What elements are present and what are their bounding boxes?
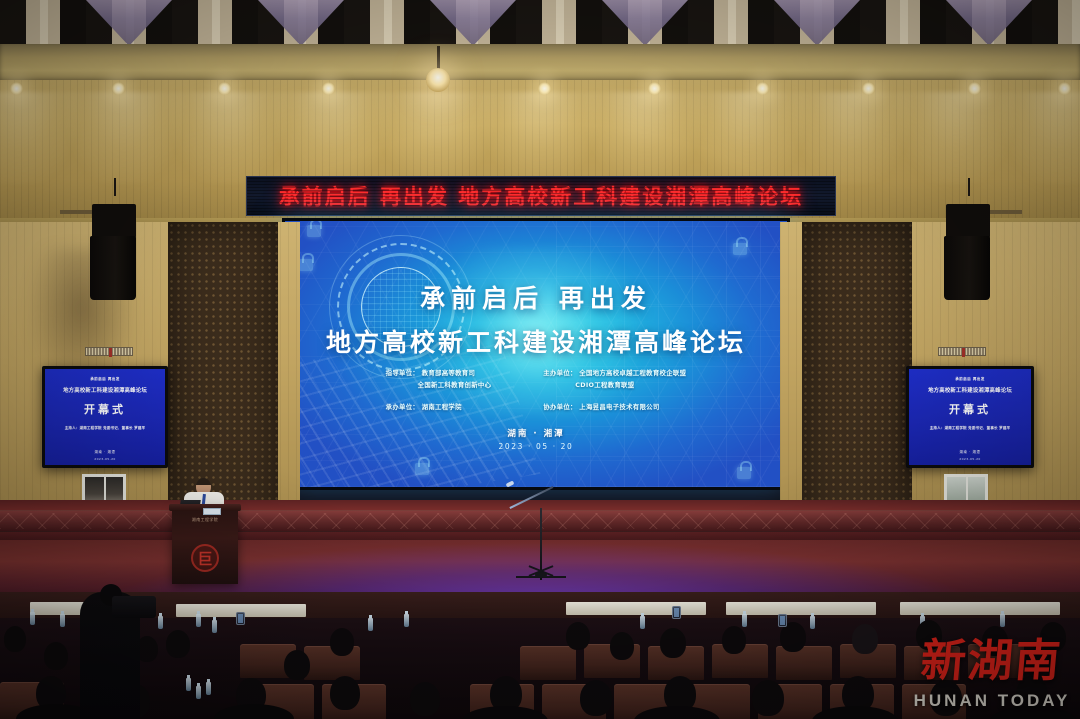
auditorium-chair xyxy=(776,646,832,680)
screen-place: 湖南 · 湘潭 xyxy=(285,427,787,439)
auditorium-scene: 承前启后 再出发 地方高校新工科建设湘潭高峰论坛 承前启后 再出发 地方高校新工… xyxy=(0,0,1080,719)
organizers-right-column: 主办单位： 全国地方高校卓越工程教育校企联盟 CDIO工程教育联盟 协办单位： … xyxy=(543,368,686,414)
water-bottle xyxy=(158,616,163,629)
water-bottle xyxy=(196,686,201,699)
vent-grille-right xyxy=(938,347,986,356)
audience-head xyxy=(722,626,746,654)
speaker-left xyxy=(88,196,140,308)
led-banner-text: 承前启后 再出发 地方高校新工科建设湘潭高峰论坛 xyxy=(279,181,804,211)
monitor-place: 湖南 · 湘潭 xyxy=(960,449,981,454)
ceiling-downlight xyxy=(218,82,231,95)
audience-head xyxy=(852,624,878,654)
pendant-lamp-icon xyxy=(426,68,450,92)
monitor-title: 地方高校新工科建设湘潭高峰论坛 xyxy=(928,386,1012,394)
screen-organizers: 指导单位： 教育部高等教育司 全国新工科教育创新中心 承办单位： 湖南工程学院 … xyxy=(285,368,787,414)
organizers-left-column: 指导单位： 教育部高等教育司 全国新工科教育创新中心 承办单位： 湖南工程学院 xyxy=(386,368,492,414)
audience-head xyxy=(166,630,190,658)
ceiling-downlight xyxy=(756,82,769,95)
watermark-english: HUNAN TODAY xyxy=(914,691,1071,711)
audience-head xyxy=(284,650,310,680)
screen-title-line1: 承前启后 再出发 xyxy=(420,279,652,315)
organizer-line: CDIO工程教育联盟 xyxy=(543,380,686,392)
water-bottle xyxy=(206,682,211,695)
water-bottle xyxy=(404,614,409,627)
side-monitor-left: 承前启后 再出发 地方高校新工科建设湘潭高峰论坛 开幕式 主持人：湖南工程学院 … xyxy=(42,366,168,468)
vent-grille-left xyxy=(85,347,133,356)
monitor-date: 2023-05-20 xyxy=(959,457,980,461)
phone-camera xyxy=(672,606,681,619)
podium-logo-icon: 巨 xyxy=(191,544,219,572)
watermark: 新湖南 HUNAN TODAY xyxy=(912,619,1072,711)
side-monitor-right: 承前启后 再出发 地方高校新工科建设湘潭高峰论坛 开幕式 主持人：湖南工程学院 … xyxy=(906,366,1034,468)
water-bottle xyxy=(196,614,201,627)
monitor-subtitle: 承前启后 再出发 xyxy=(955,377,985,382)
speaker-right xyxy=(942,196,994,308)
water-bottle xyxy=(212,620,217,633)
led-banner: 承前启后 再出发 地方高校新工科建设湘潭高峰论坛 xyxy=(246,176,836,216)
audience-head xyxy=(580,680,612,716)
organizer-line: 指导单位： 教育部高等教育司 xyxy=(386,368,492,380)
organizer-line: 协办单位： 上海昱昌电子技术有限公司 xyxy=(543,402,686,414)
water-bottle xyxy=(810,616,815,629)
screen-date: 2023 · 05 · 20 xyxy=(285,442,787,451)
monitor-headline: 开幕式 xyxy=(949,401,991,417)
video-camera xyxy=(112,596,156,618)
organizer-line: 承办单位： 湖南工程学院 xyxy=(386,402,492,414)
water-bottle xyxy=(640,616,645,629)
ceiling-downlight xyxy=(968,82,981,95)
water-bottle xyxy=(60,614,65,627)
monitor-title: 地方高校新工科建设湘潭高峰论坛 xyxy=(63,386,147,394)
ceiling-downlight xyxy=(1058,82,1071,95)
phone-camera xyxy=(778,614,787,627)
audience-head xyxy=(660,628,686,658)
audience-head xyxy=(44,642,68,670)
audience-head xyxy=(330,628,354,656)
audience-head xyxy=(410,682,440,716)
water-bottle xyxy=(368,618,373,631)
monitor-host-line: 主持人：湖南工程学院 党委书记、董事长 罗建平 xyxy=(930,426,1011,431)
monitor-date: 2023-05-20 xyxy=(94,457,115,461)
ceiling-coffers xyxy=(0,0,1080,46)
screen-title-line2: 地方高校新工科建设湘潭高峰论坛 xyxy=(326,323,746,359)
audience-head xyxy=(330,676,360,710)
audience-head xyxy=(4,626,26,652)
monitor-headline: 开幕式 xyxy=(84,401,126,417)
phone-camera xyxy=(236,612,245,625)
ceiling-downlight xyxy=(112,82,125,95)
ceiling-band xyxy=(0,44,1080,82)
water-bottle xyxy=(742,614,747,627)
monitor-place: 湖南 · 湘潭 xyxy=(95,449,116,454)
main-led-screen: 承前启后 再出发 地方高校新工科建设湘潭高峰论坛 指导单位： 教育部高等教育司 … xyxy=(282,218,790,490)
ceiling-downlight xyxy=(862,82,875,95)
watermark-chinese: 新湖南 xyxy=(920,638,1065,683)
ceiling-downlight xyxy=(322,82,335,95)
water-bottle xyxy=(186,678,191,691)
monitor-host-line: 主持人：湖南工程学院 党委书记、董事长 罗建平 xyxy=(65,426,146,431)
ceiling-downlight xyxy=(538,82,551,95)
mic-stand-base xyxy=(535,572,547,578)
organizer-line: 主办单位： 全国地方高校卓越工程教育校企联盟 xyxy=(543,368,686,380)
organizer-line: 全国新工科教育创新中心 xyxy=(386,380,492,392)
auditorium-chair xyxy=(520,646,576,680)
audience-head xyxy=(752,680,784,716)
ceiling-downlight xyxy=(10,82,23,95)
podium-front-text: 湖南工程学院 xyxy=(172,517,238,523)
podium: 湖南工程学院 巨 xyxy=(172,508,238,584)
audience-head xyxy=(610,632,634,660)
audience-head xyxy=(566,622,590,650)
ceiling-downlight xyxy=(648,82,661,95)
water-bottle xyxy=(30,612,35,625)
name-card xyxy=(203,508,221,515)
monitor-subtitle: 承前启后 再出发 xyxy=(90,377,120,382)
